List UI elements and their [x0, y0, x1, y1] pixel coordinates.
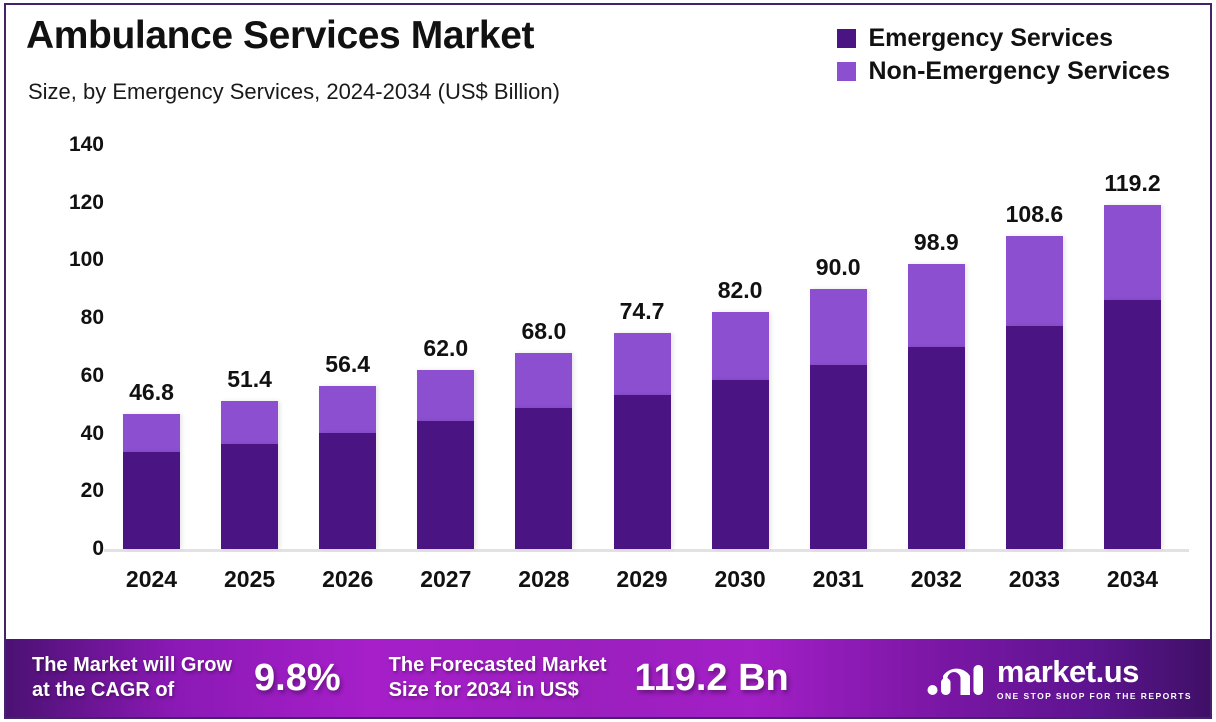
bar-segment-emergency[interactable] — [810, 365, 867, 549]
bar-segment-non-emergency[interactable] — [712, 312, 769, 380]
summary-banner: The Market will Grow at the CAGR of 9.8%… — [6, 639, 1210, 717]
bar-group[interactable]: 98.9 — [908, 264, 965, 549]
bar-segment-emergency[interactable] — [908, 347, 965, 549]
bar-series-layer: 46.851.456.462.068.074.782.090.098.9108.… — [0, 0, 1216, 620]
bar-segment-emergency[interactable] — [712, 380, 769, 549]
bar-segment-emergency[interactable] — [614, 395, 671, 549]
bar-segment-non-emergency[interactable] — [1104, 205, 1161, 300]
x-axis-tick-label: 2029 — [614, 566, 671, 593]
chart-plot-area: 020406080100120140 46.851.456.462.068.07… — [0, 0, 1216, 620]
x-axis-tick-label: 2031 — [810, 566, 867, 593]
bar-value-label: 90.0 — [816, 254, 861, 281]
bar-value-label: 98.9 — [914, 229, 959, 256]
bar-value-label: 82.0 — [718, 277, 763, 304]
infographic-root: Ambulance Services Market Size, by Emerg… — [0, 0, 1216, 722]
forecast-caption-line1: The Forecasted Market — [389, 653, 607, 678]
bar-value-label: 56.4 — [325, 351, 370, 378]
bar-segment-emergency[interactable] — [221, 444, 278, 549]
cagr-value: 9.8% — [254, 657, 341, 700]
bar-group[interactable]: 108.6 — [1006, 236, 1063, 549]
bar-group[interactable]: 56.4 — [319, 386, 376, 549]
bar-segment-non-emergency[interactable] — [515, 353, 572, 408]
cagr-caption-line2: at the CAGR of — [32, 678, 232, 703]
brand-logo[interactable]: market.us ONE STOP SHOP FOR THE REPORTS — [927, 654, 1192, 703]
x-axis-tick-label: 2024 — [123, 566, 180, 593]
bar-segment-emergency[interactable] — [1104, 300, 1161, 549]
forecast-value: 119.2 Bn — [635, 657, 789, 700]
bar-group[interactable]: 74.7 — [614, 333, 671, 549]
bar-group[interactable]: 51.4 — [221, 401, 278, 549]
bar-value-label: 68.0 — [522, 318, 567, 345]
x-axis-tick-label: 2026 — [319, 566, 376, 593]
bar-group[interactable]: 68.0 — [515, 353, 572, 549]
bar-value-label: 46.8 — [129, 379, 174, 406]
bar-segment-emergency[interactable] — [515, 408, 572, 549]
bar-segment-emergency[interactable] — [417, 421, 474, 549]
bar-segment-emergency[interactable] — [319, 433, 376, 549]
bar-segment-emergency[interactable] — [123, 452, 180, 549]
cagr-caption-line1: The Market will Grow — [32, 653, 232, 678]
x-axis-tick-label: 2030 — [712, 566, 769, 593]
bar-value-label: 51.4 — [227, 366, 272, 393]
forecast-caption: The Forecasted Market Size for 2034 in U… — [389, 653, 607, 703]
x-axis-tick-label: 2027 — [417, 566, 474, 593]
bar-segment-non-emergency[interactable] — [614, 333, 671, 394]
x-axis-tick-label: 2033 — [1006, 566, 1063, 593]
bar-segment-non-emergency[interactable] — [221, 401, 278, 444]
x-axis-tick-label: 2028 — [515, 566, 572, 593]
x-axis-tick-label: 2032 — [908, 566, 965, 593]
bar-segment-non-emergency[interactable] — [1006, 236, 1063, 327]
bar-segment-non-emergency[interactable] — [417, 370, 474, 421]
bar-segment-non-emergency[interactable] — [810, 289, 867, 364]
forecast-caption-line2: Size for 2034 in US$ — [389, 678, 607, 703]
bar-group[interactable]: 119.2 — [1104, 205, 1161, 549]
bar-segment-emergency[interactable] — [1006, 326, 1063, 549]
bar-value-label: 74.7 — [620, 298, 665, 325]
bar-value-label: 119.2 — [1104, 170, 1160, 197]
bar-segment-non-emergency[interactable] — [908, 264, 965, 347]
brand-text: market.us ONE STOP SHOP FOR THE REPORTS — [997, 656, 1192, 701]
x-axis-tick-label: 2034 — [1104, 566, 1161, 593]
forecast-block: The Forecasted Market Size for 2034 in U… — [389, 653, 789, 703]
bar-value-label: 108.6 — [1006, 201, 1064, 228]
bar-group[interactable]: 62.0 — [417, 370, 474, 549]
bar-segment-non-emergency[interactable] — [123, 414, 180, 452]
bar-group[interactable]: 46.8 — [123, 414, 180, 549]
bar-segment-non-emergency[interactable] — [319, 386, 376, 433]
bar-value-label: 62.0 — [423, 335, 468, 362]
brand-name: market.us — [997, 656, 1192, 687]
market-us-logo-icon — [927, 654, 985, 703]
bar-group[interactable]: 82.0 — [712, 312, 769, 549]
x-axis-tick-label: 2025 — [221, 566, 278, 593]
bar-group[interactable]: 90.0 — [810, 289, 867, 549]
cagr-block: The Market will Grow at the CAGR of 9.8% — [32, 653, 341, 703]
cagr-caption: The Market will Grow at the CAGR of — [32, 653, 232, 703]
brand-tagline: ONE STOP SHOP FOR THE REPORTS — [997, 691, 1192, 701]
